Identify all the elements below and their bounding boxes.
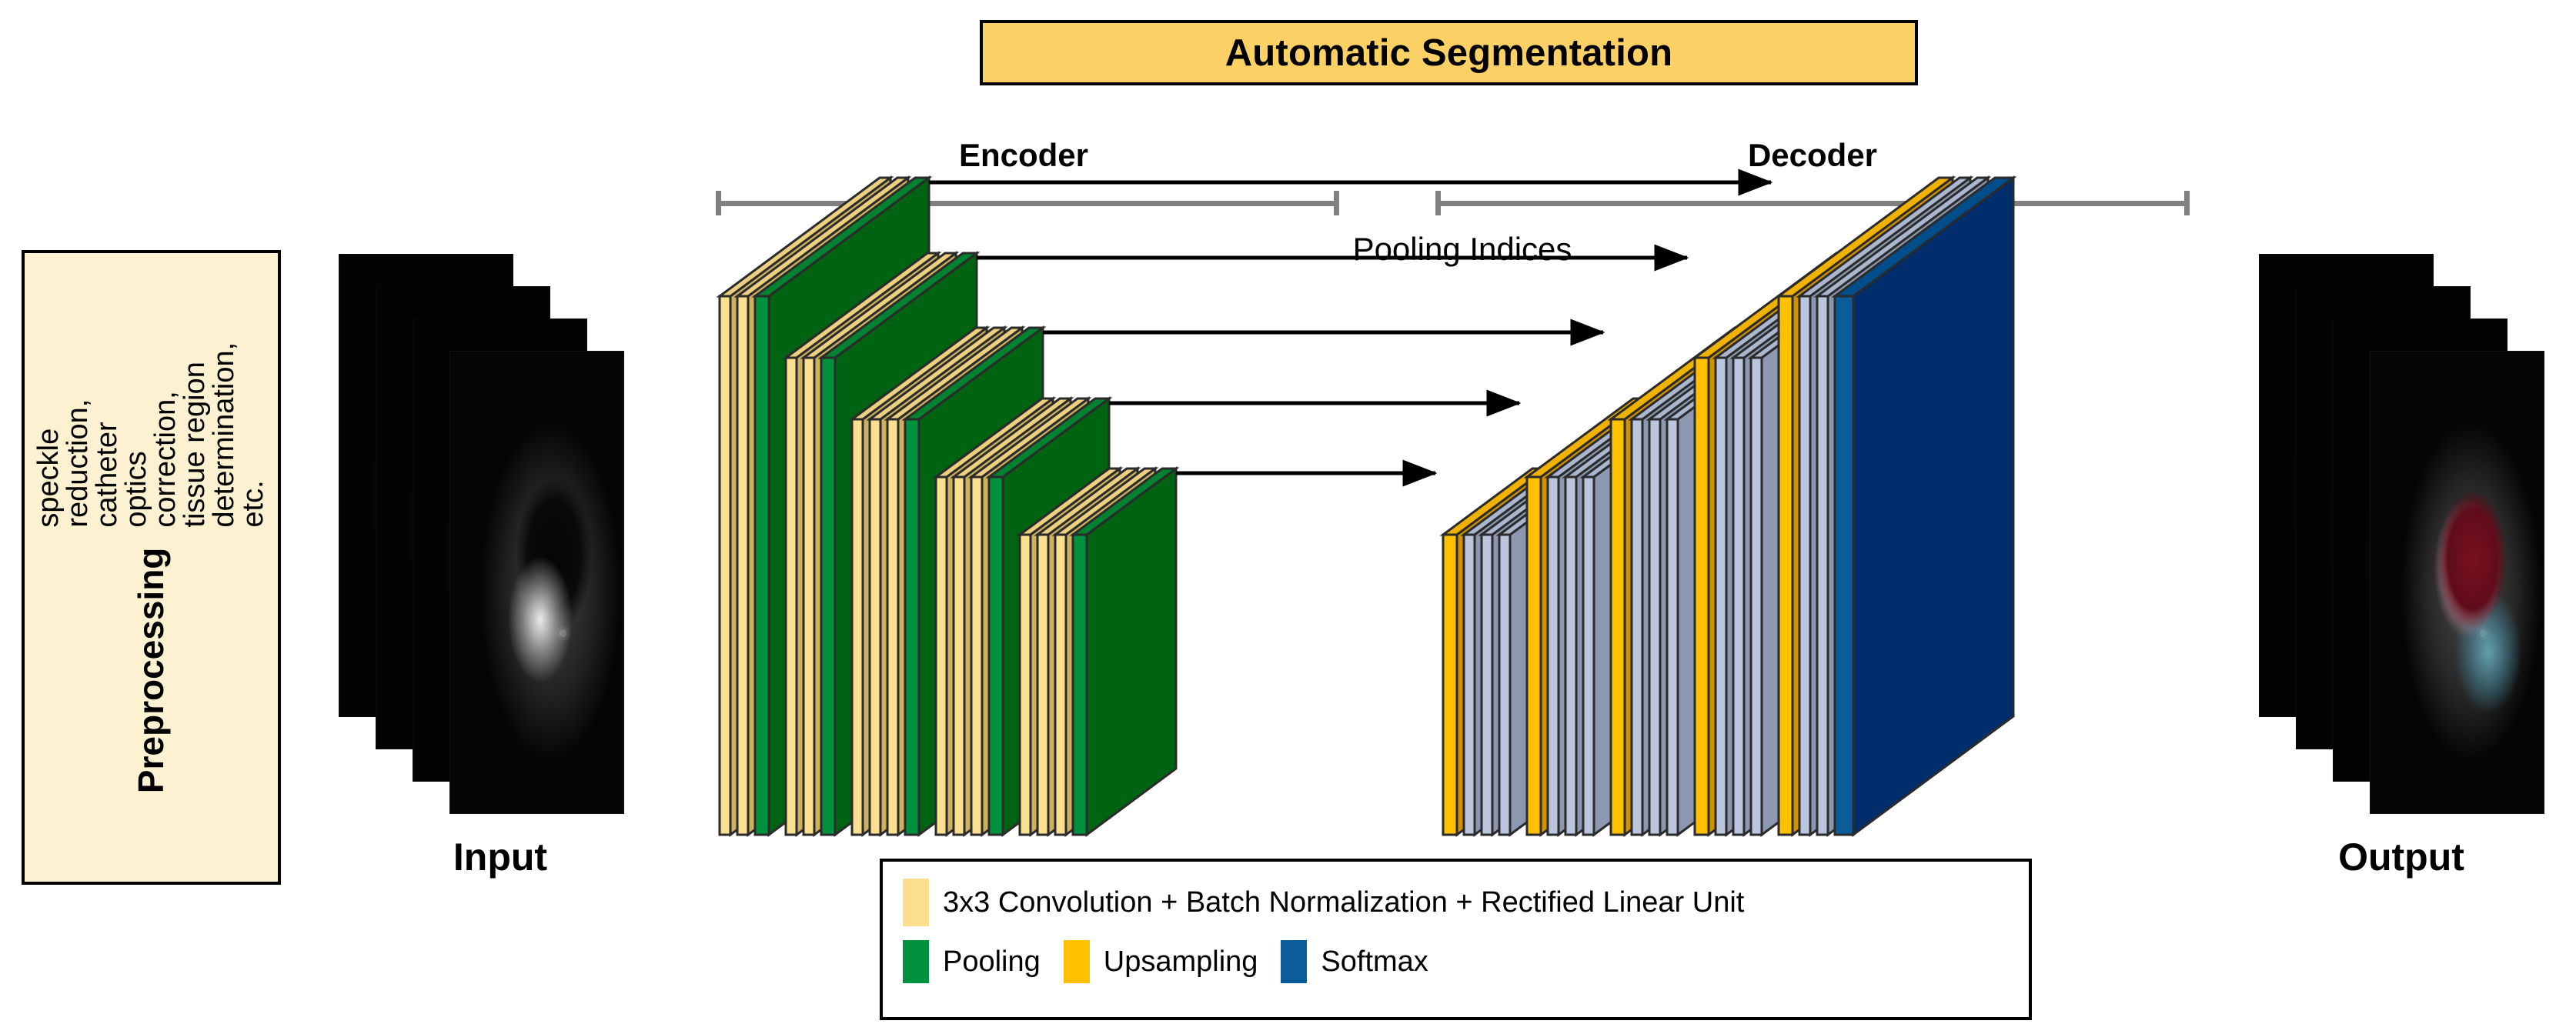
- legend-swatch-pooling: [903, 940, 929, 983]
- legend-label-softmax: Softmax: [1321, 946, 1428, 979]
- legend-box: 3x3 Convolution + Batch Normalization + …: [880, 859, 2032, 1020]
- legend-row-bottom: Pooling Upsampling Softmax: [903, 940, 2009, 983]
- legend-swatch-conv: [903, 879, 929, 926]
- pooling-indices-label: Pooling Indices: [1078, 231, 1847, 268]
- encoder-pooling-slab: [1073, 469, 1176, 835]
- legend-label-conv: 3x3 Convolution + Batch Normalization + …: [943, 886, 1744, 919]
- legend-row-conv: 3x3 Convolution + Batch Normalization + …: [903, 879, 2009, 926]
- legend-swatch-softmax: [1281, 940, 1307, 983]
- network-slab-layer: [720, 178, 2013, 835]
- legend-swatch-upsampling: [1064, 940, 1090, 983]
- stack-slide: [449, 351, 624, 814]
- stack-slide: [2370, 351, 2544, 814]
- legend-label-pooling: Pooling: [943, 946, 1041, 979]
- legend-label-upsampling: Upsampling: [1104, 946, 1258, 979]
- decoder-softmax-slab: [1835, 178, 2013, 835]
